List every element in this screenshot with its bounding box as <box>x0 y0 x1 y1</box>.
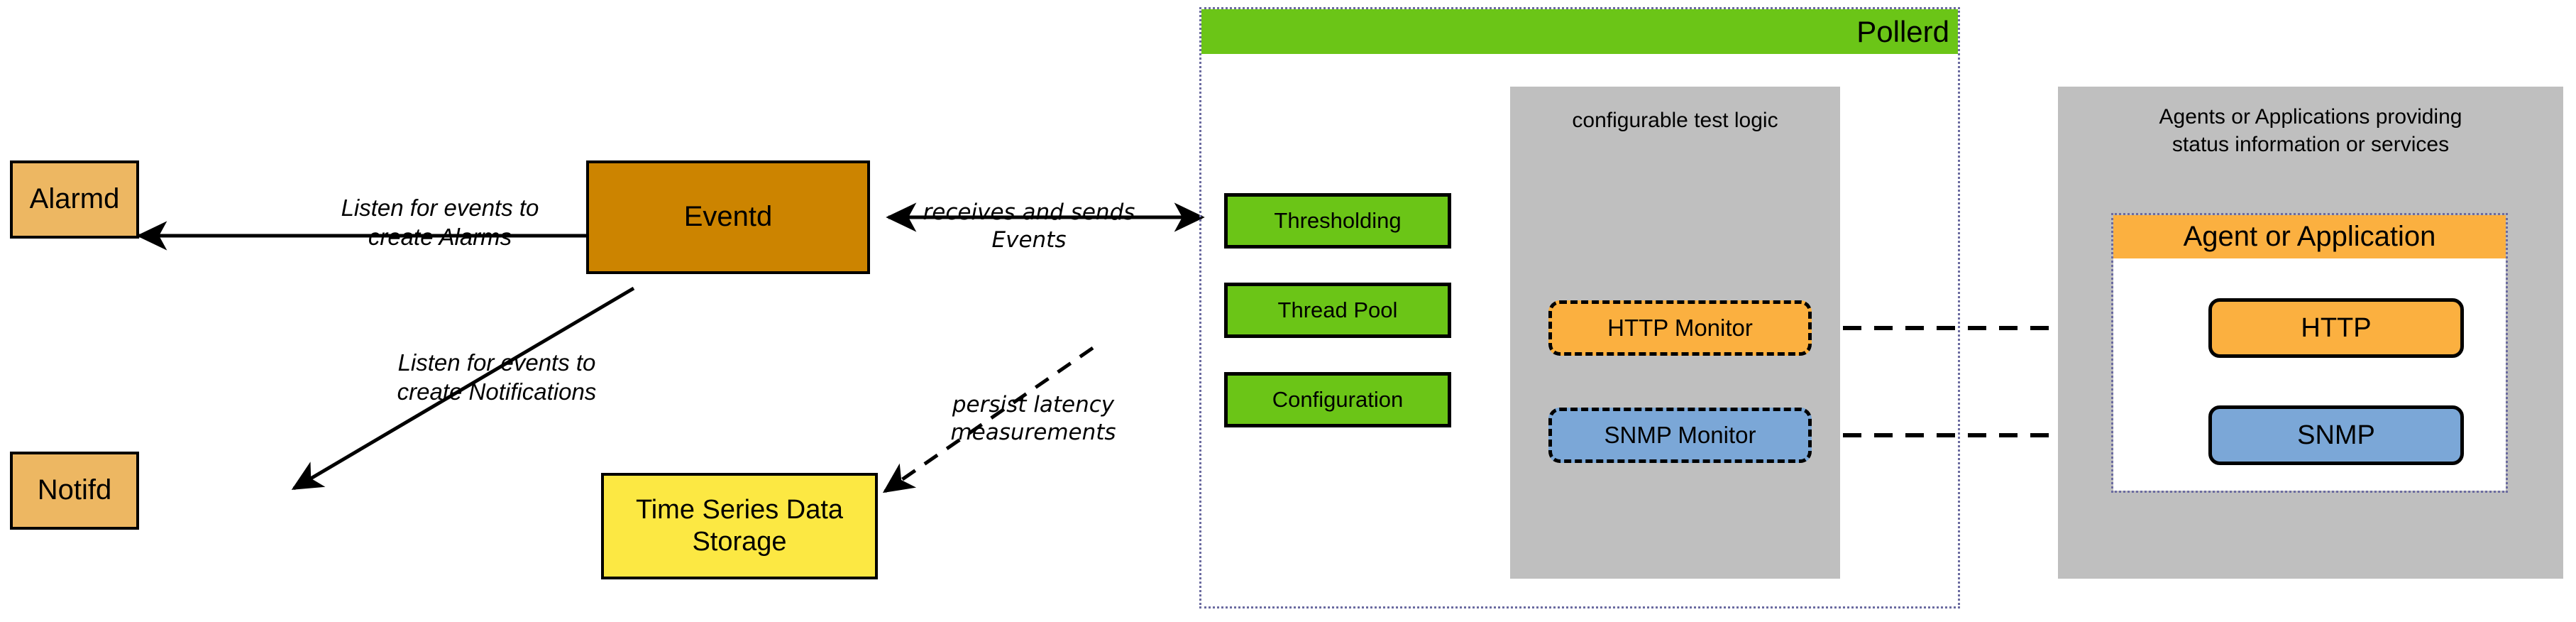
edge-label-persist-latency: persist latency measurements <box>920 391 1147 447</box>
node-time-series-storage[interactable]: Time Series Data Storage <box>601 473 878 579</box>
pollerd-module-thresholding[interactable]: Thresholding <box>1224 193 1451 249</box>
agent-application-header: Agent or Application <box>2113 215 2506 258</box>
node-alarmd-label: Alarmd <box>26 182 124 216</box>
edge-label-create-notifications-line2: create Notifications <box>341 377 653 406</box>
http-monitor-box[interactable]: HTTP Monitor <box>1548 300 1812 356</box>
edge-label-create-alarms: Listen for events to create Alarms <box>305 193 575 252</box>
configurable-test-logic-caption: configurable test logic <box>1510 107 1840 134</box>
snmp-monitor-label: SNMP Monitor <box>1600 422 1761 449</box>
snmp-monitor-box[interactable]: SNMP Monitor <box>1548 408 1812 463</box>
pollerd-module-thread-pool[interactable]: Thread Pool <box>1224 283 1451 338</box>
node-alarmd[interactable]: Alarmd <box>10 160 139 239</box>
node-notifd-label: Notifd <box>33 474 116 507</box>
edge-label-create-notifications: Listen for events to create Notification… <box>341 348 653 407</box>
edge-label-events-line1: receives and sends <box>901 199 1157 227</box>
http-monitor-label: HTTP Monitor <box>1603 315 1757 342</box>
service-snmp-box[interactable]: SNMP <box>2208 405 2464 465</box>
pollerd-module-thresholding-label: Thresholding <box>1270 208 1405 234</box>
node-notifd[interactable]: Notifd <box>10 452 139 530</box>
service-http-label: HTTP <box>2296 312 2375 344</box>
edge-label-events-line2: Events <box>901 227 1157 254</box>
pollerd-header: Pollerd <box>1201 9 1958 54</box>
edge-label-create-notifications-line1: Listen for events to <box>341 348 653 377</box>
edge-label-create-alarms-line1: Listen for events to <box>305 193 575 222</box>
agents-panel-caption: Agents or Applications providing status … <box>2058 103 2563 158</box>
node-time-series-line2: Storage <box>688 526 791 558</box>
diagram-canvas: Alarmd Notifd Eventd Time Series Data St… <box>0 0 2576 622</box>
agent-application-title: Agent or Application <box>2113 221 2506 253</box>
pollerd-title: Pollerd <box>1201 15 1958 49</box>
edge-label-latency-line1: persist latency <box>920 391 1147 419</box>
node-time-series-line1: Time Series Data <box>632 494 847 526</box>
node-eventd-label: Eventd <box>680 200 777 234</box>
edge-label-receives-sends-events: receives and sends Events <box>901 199 1157 254</box>
pollerd-module-configuration[interactable]: Configuration <box>1224 372 1451 427</box>
agents-panel-caption-line1: Agents or Applications providing <box>2058 103 2563 131</box>
pollerd-module-thread-pool-label: Thread Pool <box>1274 298 1402 324</box>
edge-label-create-alarms-line2: create Alarms <box>305 222 575 251</box>
service-http-box[interactable]: HTTP <box>2208 298 2464 358</box>
edge-label-latency-line2: measurements <box>920 419 1147 447</box>
agents-panel-caption-line2: status information or services <box>2058 131 2563 158</box>
pollerd-module-configuration-label: Configuration <box>1268 387 1407 413</box>
service-snmp-label: SNMP <box>2293 420 2379 452</box>
node-eventd[interactable]: Eventd <box>586 160 870 274</box>
